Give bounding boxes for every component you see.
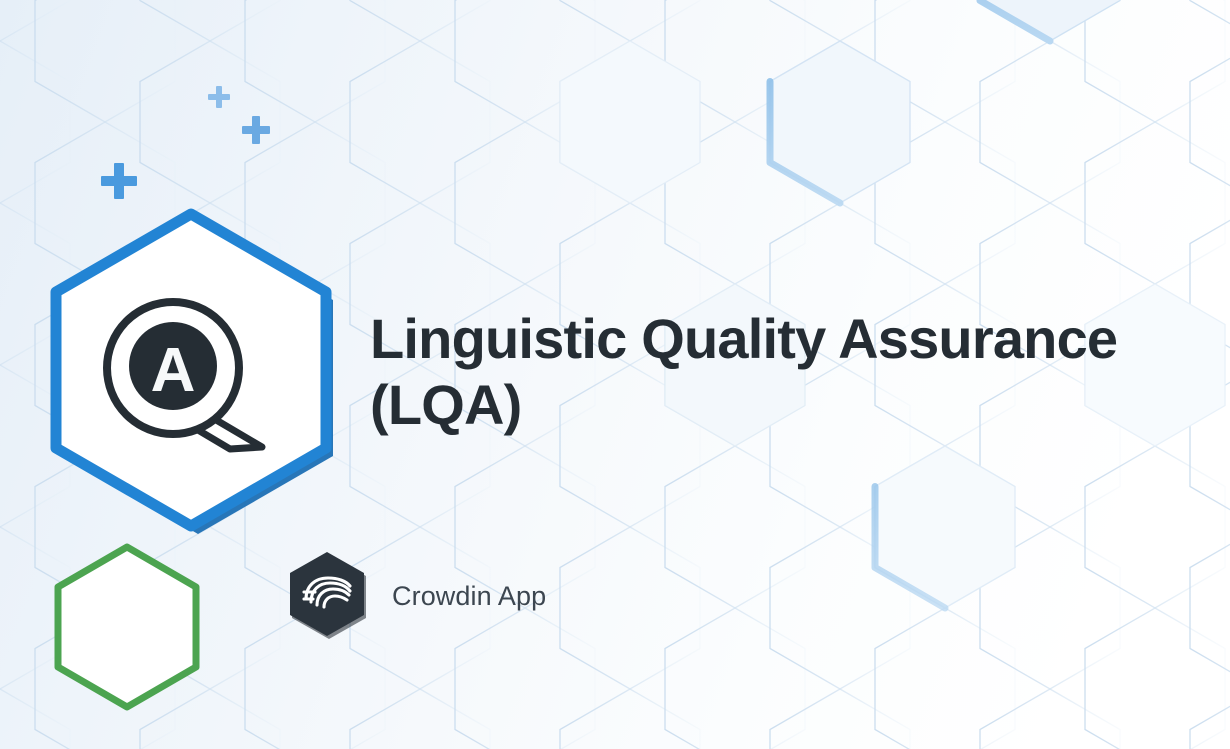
plus-icon [101,163,137,199]
accent-hexagon-group [560,0,1225,608]
plus-icon [208,86,230,108]
crowdin-app-lockup: Crowdin App [284,550,546,642]
crowdin-app-label: Crowdin App [392,581,546,612]
lqa-banner: A Linguistic Quality Assurance (LQA) Cro… [0,0,1230,749]
crowdin-logo-icon [284,550,370,642]
hexagon-outline-icon [54,543,200,711]
page-title: Linguistic Quality Assurance (LQA) [370,306,1180,438]
plus-icon [242,116,270,144]
badge-letter: A [151,336,196,405]
lqa-badge-icon: A [48,208,340,534]
